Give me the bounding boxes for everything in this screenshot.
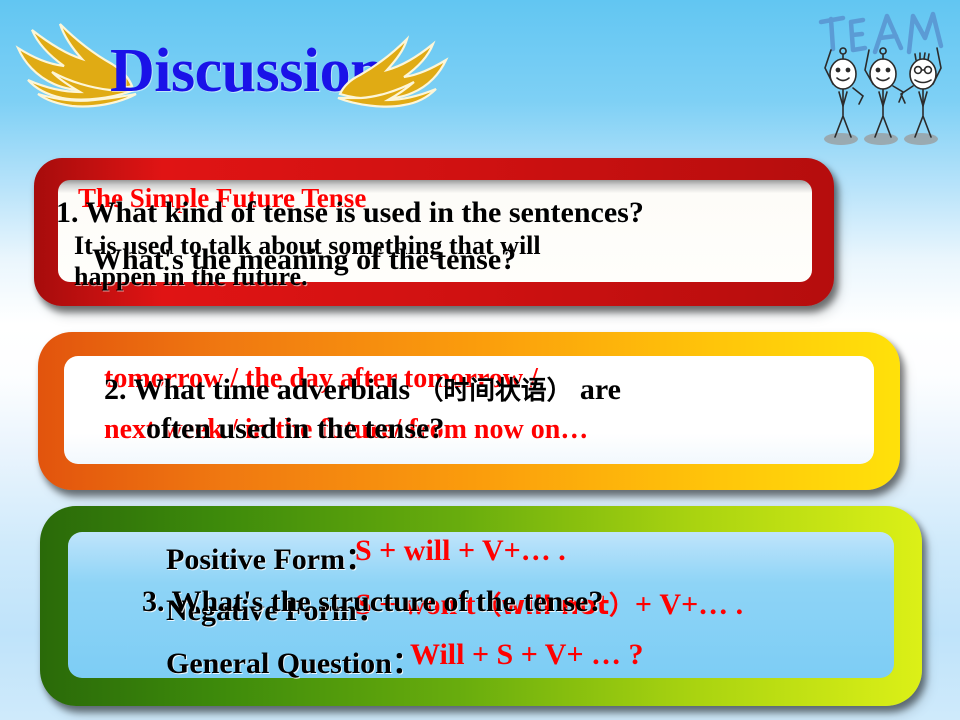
question-box-2	[38, 332, 900, 490]
slide-canvas: Discussion	[0, 0, 960, 720]
negative-form-value-part-b: + V+… .	[635, 588, 743, 621]
question-2-line2: often used in the tense?	[146, 412, 444, 446]
question-3-line1: 3. What's the structure of the tense?	[142, 585, 603, 619]
question-2-line1-chinese: （时间状语）	[418, 376, 573, 406]
wing-ornament-icon	[330, 30, 450, 115]
question-2-line1-part-b: are	[580, 373, 621, 406]
positive-form-value: S + will + V+… .	[355, 534, 566, 568]
general-question-value: Will + S + V+ … ?	[410, 638, 644, 672]
question-2-line1: 2. What time adverbials （时间状语） are	[104, 370, 621, 407]
question-1-line2: What's the meaning of the tense?	[92, 243, 516, 277]
question-2-line1-part-a: 2. What time adverbials	[104, 373, 410, 406]
question-1-line1: 1. What kind of tense is used in the sen…	[56, 196, 644, 230]
positive-form-label: Positive Form：	[166, 534, 375, 578]
general-question-label: General Question：	[166, 638, 422, 682]
team-stick-figures-clipart	[809, 4, 954, 154]
title-area: Discussion	[0, 0, 760, 150]
